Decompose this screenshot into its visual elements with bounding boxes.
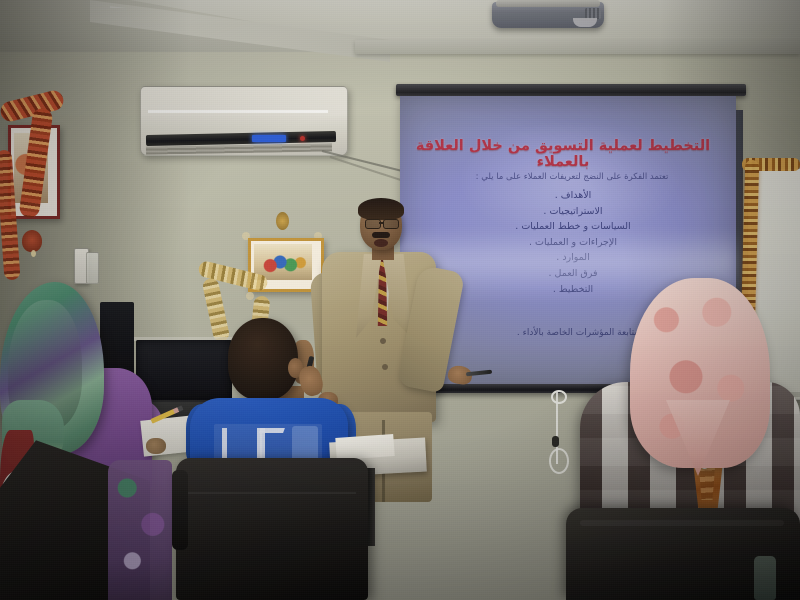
presenter-moustache [372,232,390,238]
slide-bullet-list: الأهداف . الاستراتيجيات . السياسات و خطط… [430,188,716,297]
wall-ornament [246,292,254,300]
water-bottle [754,556,776,600]
slide-bullet: السياسات و خطط العمليات . [430,219,716,235]
desk-paper [335,434,394,460]
attendee-left-hand [146,438,166,454]
slide-bullet: فرق العمل . [430,266,716,282]
projector-mount [496,0,600,7]
presenter-jacket-button [382,364,388,370]
decorative-bow-bead [31,250,36,257]
eyeglasses-icon [365,219,381,229]
attendee-left-patterned-fabric [108,460,172,600]
projector-lens [573,18,597,27]
presenter-jacket-button [380,338,386,344]
chair-right-sheen [580,520,784,526]
slide-bullet: الموارد . [430,250,716,266]
eyeglasses-icon [383,219,399,229]
attendee-center-head [228,318,298,400]
projection-screen-housing [396,84,746,96]
ac-display-led [252,135,286,142]
presenter-hair [358,198,404,220]
screen-cord-loop[interactable] [549,448,569,474]
tshirt-glyph-accent [259,428,285,433]
ac-power-led [300,136,305,141]
presenter-mouth [374,239,388,247]
chair-armrest [172,470,188,550]
eyeglasses-bridge [379,222,383,224]
classroom-presentation-photo: التخطيط لعملية التسويق من خلال العلاقة ب… [0,0,800,600]
slide-intro-text: تعتمد الفكرة على النضج لتعريفات العملاء … [426,172,718,182]
slide-bullet: الأهداف . [430,188,716,204]
chair-seam [188,492,356,494]
chair-center [176,458,368,600]
decorative-bow [22,230,42,252]
slide-bullet: الاستراتيجيات . [430,204,716,220]
screen-pull-handle[interactable] [551,390,567,404]
ac-highlight [148,110,328,113]
screen-cord-bead [552,436,559,447]
background-monitor [136,340,232,402]
wall-light-switch-secondary[interactable] [86,252,99,284]
slide-bullet: الإجراءات و العمليات . [430,235,716,251]
wall-medallion [276,212,289,230]
slide-title: التخطيط لعملية التسويق من خلال العلاقة ب… [400,138,726,170]
